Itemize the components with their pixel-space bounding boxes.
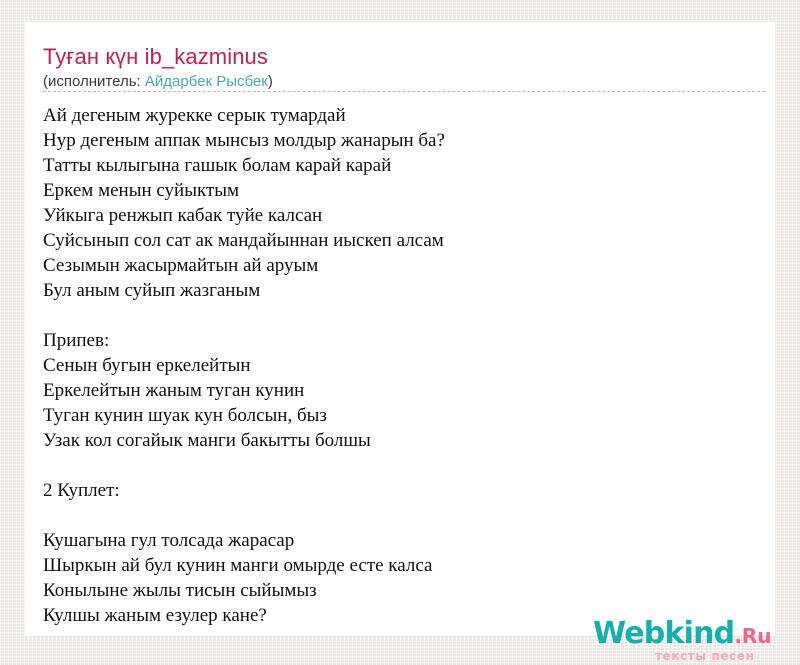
lyric-line: Еркем менын суйыктым — [43, 178, 765, 203]
lyric-line: 2 Куплет: — [43, 478, 765, 503]
performer-line: (исполнитель: Айдарбек Рысбек) — [43, 72, 765, 92]
lyric-line: Ай дегеным журекке серык тумардай — [43, 103, 765, 128]
page-title: Туған күн ib_kazminus — [43, 44, 765, 70]
performer-prefix-label: (исполнитель: — [43, 73, 145, 90]
lyric-line: Сенын бугын еркелейтын — [43, 353, 765, 378]
performer-link[interactable]: Айдарбек Рысбек — [145, 73, 268, 90]
lyric-line: Туган кунин шуак кун болсын, быз — [43, 403, 765, 428]
lyric-line: Сезымын жасырмайтын ай аруым — [43, 253, 765, 278]
lyric-line: Припев: — [43, 328, 765, 353]
lyric-line: Суйсынып сол сат ак мандайыннан иыскеп а… — [43, 228, 765, 253]
lyric-line — [43, 303, 765, 328]
content-card: Туған күн ib_kazminus (исполнитель: Айда… — [25, 22, 775, 635]
song-header: Туған күн ib_kazminus (исполнитель: Айда… — [43, 44, 765, 92]
lyric-line — [43, 453, 765, 478]
lyric-line: Кушагына гул толсада жарасар — [43, 528, 765, 553]
performer-suffix-label: ) — [268, 73, 273, 90]
logo-tld-text: .Ru — [734, 624, 771, 648]
logo-main-text: Webkind — [593, 616, 734, 651]
logo-tagline: тексты песен — [655, 649, 793, 663]
lyric-line: Шыркын ай бул кунин манги омырде есте ка… — [43, 553, 765, 578]
lyrics-text: Ай дегеным журекке серык тумардайНур дег… — [43, 103, 765, 628]
logo-wordmark: Webkind.Ru — [593, 619, 793, 651]
lyric-line: Узак кол согайык манги бакытты болшы — [43, 428, 765, 453]
lyric-line: Бул аным суйып жазганым — [43, 278, 765, 303]
site-logo[interactable]: Webkind.Ru тексты песен — [593, 619, 793, 665]
lyric-line: Уйкыга ренжып кабак туйе калсан — [43, 203, 765, 228]
lyric-line: Конылыне жылы тисын сыйымыз — [43, 578, 765, 603]
lyric-line — [43, 503, 765, 528]
lyric-line: Нур дегеным аппак мынсыз молдыр жанарын … — [43, 128, 765, 153]
lyric-line: Еркелейтын жаным туган кунин — [43, 378, 765, 403]
lyric-line: Татты кылыгына гашык болам карай карай — [43, 153, 765, 178]
header-divider — [43, 91, 765, 92]
